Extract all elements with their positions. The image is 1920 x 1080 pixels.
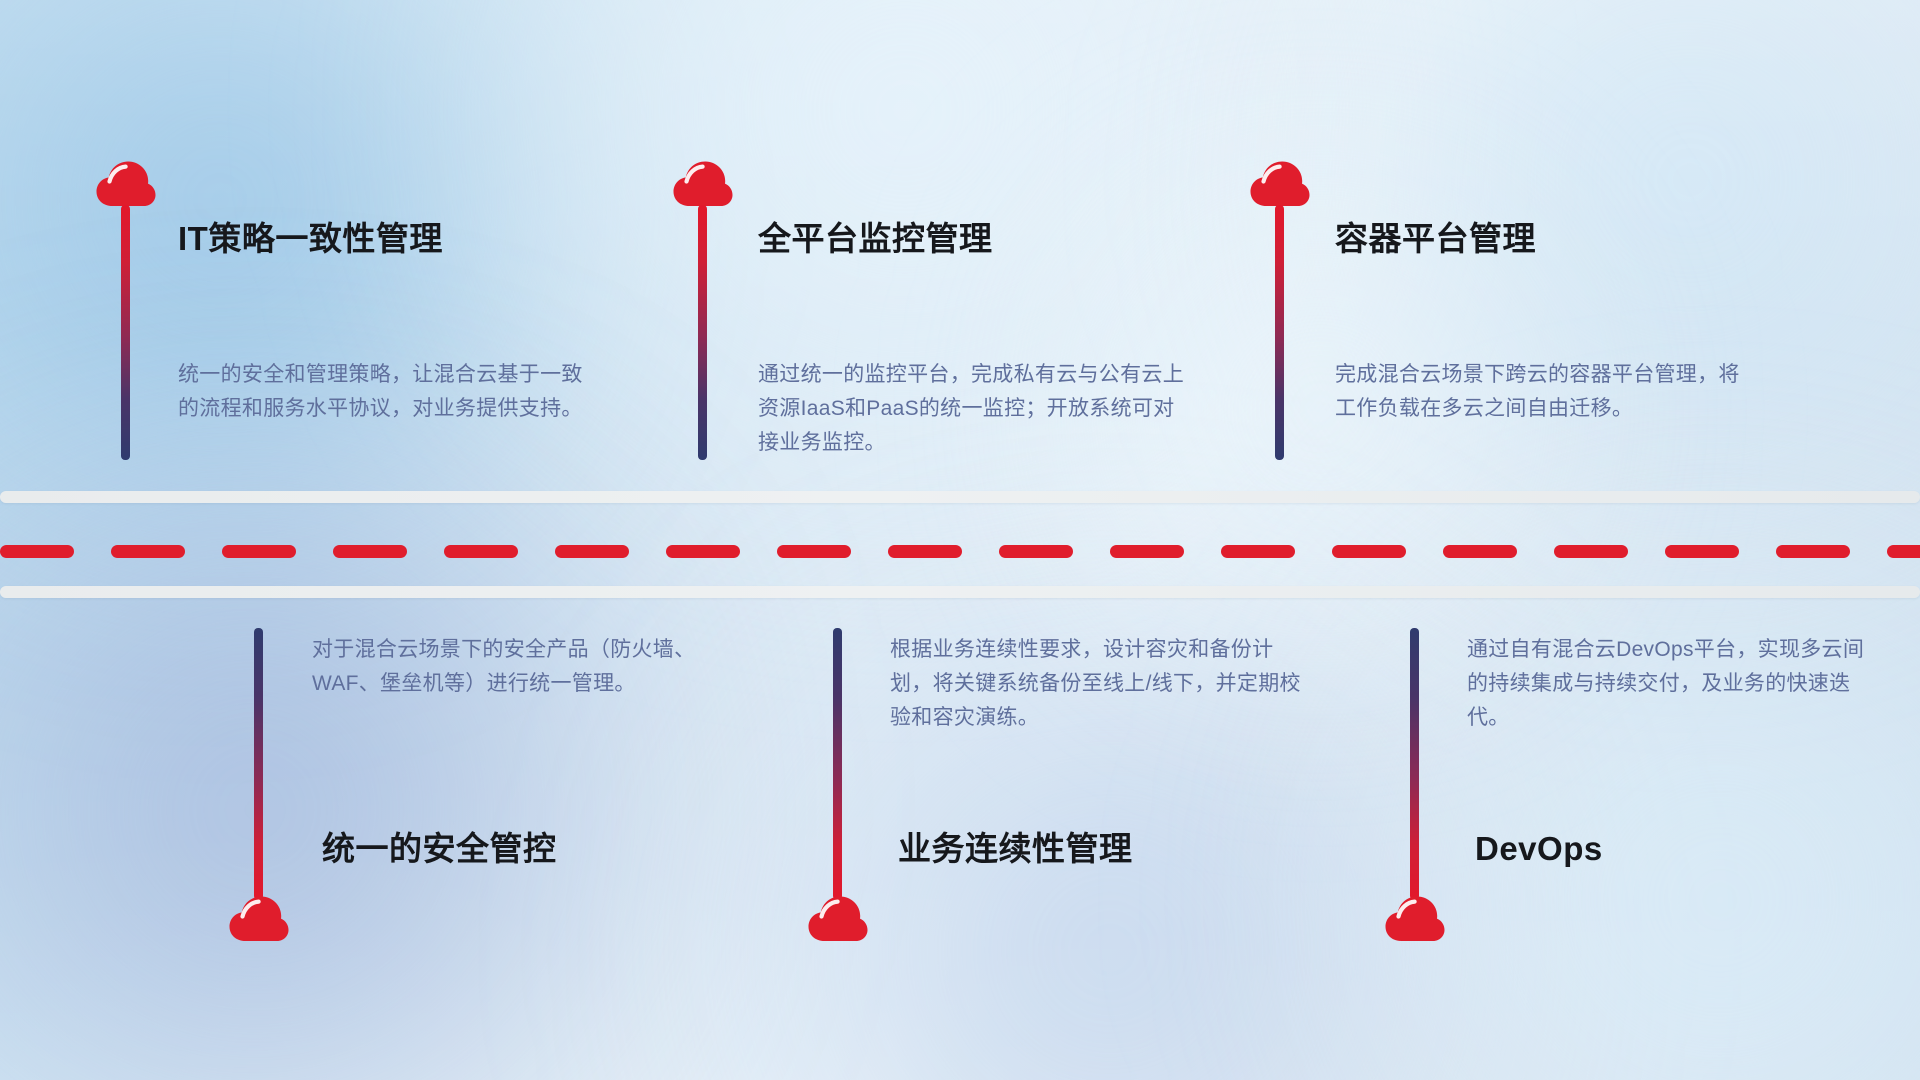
road-edge-bottom xyxy=(0,586,1920,598)
cloud-icon xyxy=(672,160,734,208)
top-item-title: IT策略一致性管理 xyxy=(178,222,443,255)
road-dash-segment xyxy=(222,545,296,558)
bottom-item-title: 业务连续性管理 xyxy=(898,832,1133,865)
road-dash-segment xyxy=(333,545,407,558)
bottom-item-title: DevOps xyxy=(1475,832,1603,865)
top-item-title: 容器平台管理 xyxy=(1335,222,1536,255)
road-dash-segment xyxy=(555,545,629,558)
cloud-icon xyxy=(807,895,869,943)
connector-stem xyxy=(121,205,130,460)
connector-stem xyxy=(698,205,707,460)
cloud-icon xyxy=(1384,895,1446,943)
bottom-item-title: 统一的安全管控 xyxy=(322,832,557,865)
road-dash-segment xyxy=(1221,545,1295,558)
road-dash-segment xyxy=(1776,545,1850,558)
connector-stem xyxy=(1410,628,1419,900)
connector-stem xyxy=(1275,205,1284,460)
connector-stem xyxy=(833,628,842,900)
road-dash-segment xyxy=(999,545,1073,558)
bottom-item-description: 对于混合云场景下的安全产品（防火墙、WAF、堡垒机等）进行统一管理。 xyxy=(312,633,730,701)
top-item-title: 全平台监控管理 xyxy=(758,222,993,255)
cloud-icon xyxy=(95,160,157,208)
top-item-description: 统一的安全和管理策略，让混合云基于一致的流程和服务水平协议，对业务提供支持。 xyxy=(178,358,596,426)
road-dash-segment xyxy=(1443,545,1517,558)
road-center-dashes xyxy=(0,545,1920,558)
top-item-description: 完成混合云场景下跨云的容器平台管理，将工作负载在多云之间自由迁移。 xyxy=(1335,358,1753,426)
road-dash-segment xyxy=(1887,545,1920,558)
road-dash-segment xyxy=(1110,545,1184,558)
road-dash-segment xyxy=(1665,545,1739,558)
connector-stem xyxy=(254,628,263,900)
bottom-item-description: 根据业务连续性要求，设计容灾和备份计划，将关键系统备份至线上/线下，并定期校验和… xyxy=(890,633,1308,735)
road-dash-segment xyxy=(111,545,185,558)
road-dash-segment xyxy=(1554,545,1628,558)
infographic-canvas: IT策略一致性管理 统一的安全和管理策略，让混合云基于一致的流程和服务水平协议，… xyxy=(0,0,1920,1080)
road-dash-segment xyxy=(777,545,851,558)
cloud-icon xyxy=(1249,160,1311,208)
top-item-description: 通过统一的监控平台，完成私有云与公有云上资源IaaS和PaaS的统一监控；开放系… xyxy=(758,358,1188,460)
road-edge-top xyxy=(0,491,1920,503)
road-dash-segment xyxy=(1332,545,1406,558)
bottom-item-description: 通过自有混合云DevOps平台，实现多云间的持续集成与持续交付，及业务的快速迭代… xyxy=(1467,633,1885,735)
road-dash-segment xyxy=(0,545,74,558)
road-dash-segment xyxy=(888,545,962,558)
cloud-icon xyxy=(228,895,290,943)
road-dash-segment xyxy=(444,545,518,558)
road-dash-segment xyxy=(666,545,740,558)
